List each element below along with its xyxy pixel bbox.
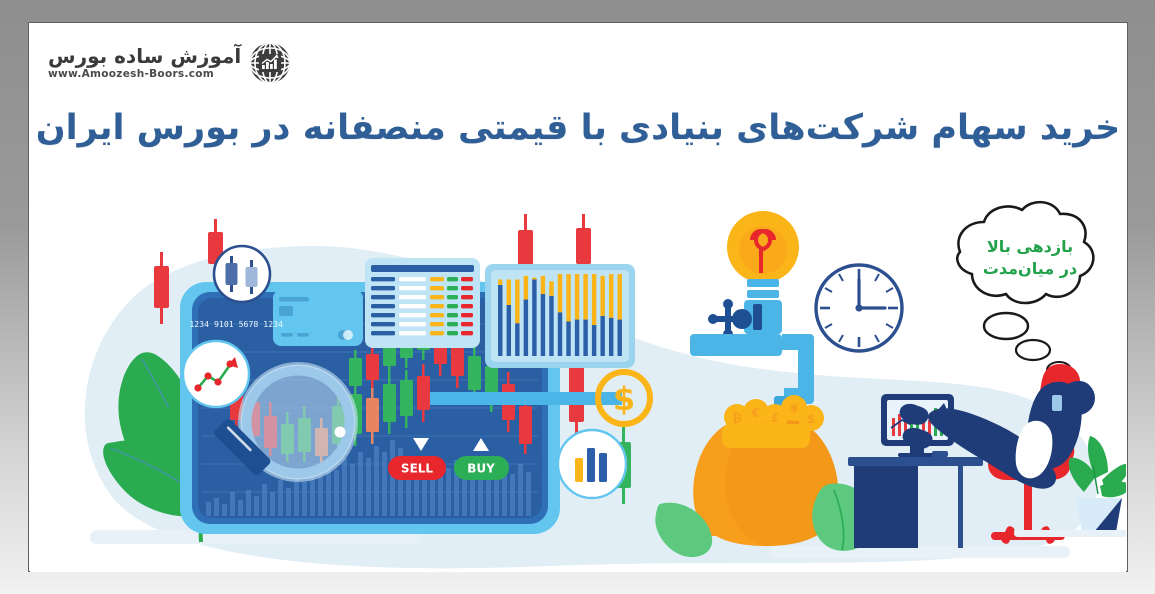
ground-shadow bbox=[770, 546, 1070, 558]
bar-base bbox=[532, 279, 536, 356]
thought-line-2: در میان‌مدت bbox=[983, 259, 1077, 278]
globe-chart-icon bbox=[248, 41, 292, 85]
bar-base bbox=[507, 305, 511, 356]
bar-top bbox=[618, 274, 622, 320]
bar-top bbox=[583, 274, 587, 320]
bar-chart-circle-icon[interactable] bbox=[558, 430, 626, 498]
svg-text:£: £ bbox=[771, 411, 779, 425]
sell-button-label: SELL bbox=[401, 462, 433, 476]
banner-root: آموزش ساده بورس www.Amoozesh-Boors.com خ… bbox=[0, 0, 1155, 594]
bar-top bbox=[575, 274, 579, 320]
buy-button-label: BUY bbox=[467, 462, 495, 476]
bar-base bbox=[515, 323, 519, 356]
bar-base bbox=[575, 320, 579, 356]
bar-base bbox=[592, 325, 596, 356]
bar-top bbox=[592, 274, 596, 325]
bar-top bbox=[549, 281, 553, 296]
dollar-symbol: $ bbox=[613, 380, 635, 418]
svg-text:$: $ bbox=[807, 412, 815, 426]
bar-base bbox=[566, 321, 570, 356]
bar-base bbox=[600, 316, 604, 356]
candlestick-circle-icon[interactable] bbox=[214, 246, 270, 302]
trend-up-circle-icon[interactable] bbox=[183, 341, 249, 407]
site-logo[interactable]: آموزش ساده بورس www.Amoozesh-Boors.com bbox=[48, 41, 292, 85]
bar-base bbox=[524, 300, 528, 356]
stacked-bar-series bbox=[498, 274, 622, 356]
bar-base bbox=[541, 294, 545, 356]
banner-page: آموزش ساده بورس www.Amoozesh-Boors.com خ… bbox=[30, 24, 1126, 572]
bar-top bbox=[541, 276, 545, 294]
svg-text:€: € bbox=[751, 406, 760, 420]
bar-top bbox=[515, 279, 519, 323]
bar-top bbox=[609, 274, 613, 318]
hero-illustration: SELL BUY 1234 5678 9101 1234 bbox=[30, 174, 1126, 572]
wall-clock-icon bbox=[816, 265, 902, 351]
bar-base bbox=[583, 320, 587, 356]
bar-top bbox=[498, 279, 502, 284]
stacked-bar-panel[interactable] bbox=[485, 264, 635, 368]
bar-top bbox=[524, 276, 528, 300]
bar-top bbox=[566, 274, 570, 321]
svg-text:₿: ₿ bbox=[732, 411, 742, 425]
pipe-horizontal bbox=[430, 392, 622, 405]
bar-base bbox=[498, 285, 502, 356]
thought-bubble: بازدهی بالا در میان‌مدت bbox=[957, 202, 1093, 378]
bar-base bbox=[558, 312, 562, 356]
bar-base bbox=[549, 296, 553, 356]
page-title: خرید سهام شرکت‌های بنیادی با قیمتی منصفا… bbox=[30, 108, 1126, 148]
market-table-panel[interactable] bbox=[365, 258, 480, 348]
svg-text:¥: ¥ bbox=[790, 402, 799, 416]
bar-top bbox=[532, 278, 536, 280]
bar-top bbox=[600, 276, 604, 316]
bar-base bbox=[609, 318, 613, 356]
bar-top bbox=[507, 279, 511, 305]
logo-brand-name: آموزش ساده بورس bbox=[48, 46, 241, 66]
bar-top bbox=[558, 274, 562, 312]
logo-website: www.Amoozesh-Boors.com bbox=[48, 69, 214, 80]
credit-card-number: 1234 5678 9101 1234 bbox=[189, 319, 283, 329]
bar-base bbox=[618, 320, 622, 356]
thought-line-1: بازدهی بالا bbox=[987, 237, 1073, 256]
